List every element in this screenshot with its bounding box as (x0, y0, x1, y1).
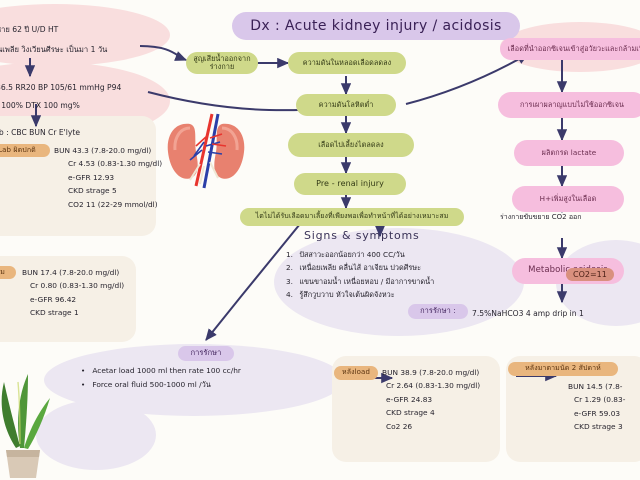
symptoms-list: 1. ปัสสาวะออกน้อยกว่า 400 CC/วัน 2. เหนื… (286, 248, 434, 302)
lab-value-row: BUN 17.4 (7.8-20.0 mg/dl) (22, 266, 124, 279)
lab-value-row: BUN 38.9 (7.8-20.0 mg/dl) (382, 366, 480, 379)
treatment-fluid-badge: การรักษา (178, 346, 234, 361)
lab-value-row: Cr 1.29 (0.83- (574, 393, 625, 406)
lab-value-row: Cr 2.64 (0.83-1.30 mg/dl) (386, 379, 480, 392)
list-item: • Force oral fluid 500-1000 ml /วัน (76, 378, 241, 392)
lab-value-row: BUN 14.5 (7.8- (568, 380, 625, 393)
flow-node-low-perfusion: ความดันโลหิตต่ำ (296, 94, 396, 116)
lab-value-row: CKD strage 5 (68, 184, 162, 197)
patient-line-1: ผู้ป่วยชาย 62 ปี U/D HT (0, 24, 58, 35)
flow-node-pre-renal-injury: Pre - renal injury (294, 173, 406, 195)
lab-order-text: Lab : CBC BUN Cr E'lyte (0, 128, 80, 137)
bullet-icon: • (76, 364, 90, 378)
flow-node-renal-blood-down: เลือดไปเลี้ยงไตลดลง (288, 133, 414, 157)
patient-line-2: CC : อ่อนเพลีย วิงเวียนศีรษะ เป็นมา 1 วั… (0, 44, 107, 55)
post-load-badge: หลังload (334, 366, 378, 380)
post-load-values: BUN 38.9 (7.8-20.0 mg/dl) Cr 2.64 (0.83-… (382, 366, 480, 433)
list-item-text: Force oral fluid 500-1000 ml /วัน (92, 380, 211, 389)
list-item-text: ปัสสาวะออกน้อยกว่า 400 CC/วัน (299, 250, 404, 259)
page-title: Dx : Acute kidney injury / acidosis (232, 12, 520, 40)
treatment-bicarb-text: 7.5%NaHCO3 4 amp drip in 1 (472, 308, 584, 319)
lab-value-row: e-GFR 59.03 (574, 407, 625, 420)
list-item-text: รู้สึกวูบวาบ หัวใจเต้นผิดจังหวะ (299, 290, 394, 299)
flow-node-fluid-loss: สูญเสียน้ำออกจากร่างกาย (186, 52, 258, 74)
flow-node-hypoperfusion-tissue: เลือดที่นำออกซิเจนเข้าสู่อวัยวะและกล้ามเ… (500, 38, 640, 60)
co2-value-badge: CO2=11 (566, 268, 614, 281)
list-item-number: 1. (286, 248, 297, 261)
lab-value-row: Co2 26 (386, 420, 480, 433)
plant-illustration (0, 352, 56, 480)
flow-node-kidney-insufficient-perfusion: ไตไม่ได้รับเลือดมาเลี้ยงที่เพียงพอเพื่อท… (240, 208, 464, 226)
list-item: 1. ปัสสาวะออกน้อยกว่า 400 CC/วัน (286, 248, 434, 261)
flow-node-lactate-production: ผลิตกรด lactate (514, 140, 624, 166)
list-item-text: Acetar load 1000 ml then rate 100 cc/hr (92, 366, 241, 375)
lab-value-row: Cr 0.80 (0.83-1.30 mg/dl) (30, 279, 124, 292)
list-item: 3. แขนขาอมน้ำ เหนื่อยหอบ / มีอาการขาดน้ำ (286, 275, 434, 288)
flow-node-h-increase: H+เพิ่มสูงในเลือด (512, 186, 624, 212)
lab-second-values: BUN 17.4 (7.8-20.0 mg/dl) Cr 0.80 (0.83-… (22, 266, 124, 320)
lab-abnormal-badge: Lab ผิดปกติ (0, 144, 50, 157)
list-item-text: เหนื่อยเพลีย คลื่นไส้ อาเจียน ปวดศีรษะ (299, 263, 421, 272)
list-item-text: แขนขาอมน้ำ เหนื่อยหอบ / มีอาการขาดน้ำ (299, 277, 434, 286)
list-item-number: 2. (286, 261, 297, 274)
lab-value-row: e-GFR 24.83 (386, 393, 480, 406)
symptoms-heading: Signs & symptoms (304, 229, 420, 242)
lab-initial-values: BUN 43.3 (7.8-20.0 mg/dl) Cr 4.53 (0.83-… (54, 144, 162, 211)
vitals-line-1: V/S T 36.5 RR20 BP 105/61 mmHg P94 (0, 82, 121, 93)
list-item: 2. เหนื่อยเพลีย คลื่นไส้ อาเจียน ปวดศีรษ… (286, 261, 434, 274)
lab-value-row: CKD strage 3 (574, 420, 625, 433)
follow-up-badge: หลังมาตามนัด 2 สัปดาห์ (508, 362, 618, 376)
flow-node-bp-drop: ความดันในหลอดเลือดลดลง (288, 52, 406, 74)
bullet-icon: • (76, 378, 90, 392)
list-item: 4. รู้สึกวูบวาบ หัวใจเต้นผิดจังหวะ (286, 288, 434, 301)
concept-map-canvas: Dx : Acute kidney injury / acidosis ผู้ป… (0, 0, 640, 480)
lab-value-row: CKD strage 4 (386, 406, 480, 419)
kidney-illustration (160, 112, 252, 196)
flow-node-anaerobic-metabolism: การเผาผลาญแบบไม่ใช้ออกซิเจน (498, 92, 640, 118)
list-item-number: 3. (286, 275, 297, 288)
list-item: • Acetar load 1000 ml then rate 100 cc/h… (76, 364, 241, 378)
lab-value-row: CKD strage 1 (30, 306, 124, 319)
lab-value-row: e-GFR 96.42 (30, 293, 124, 306)
vitals-line-2: O2 sat 100% DTX 100 mg% (0, 100, 80, 111)
flow-node-co2-expiration: ร่างกายขับขยาย CO2 ออก (500, 212, 581, 222)
list-item-number: 4. (286, 288, 297, 301)
lab-value-row: Cr 4.53 (0.83-1.30 mg/dl) (68, 157, 162, 170)
lab-second-badge: เดิม (0, 266, 16, 279)
treatment-bicarb-badge: การรักษา : (408, 304, 468, 319)
lab-value-row: BUN 43.3 (7.8-20.0 mg/dl) (54, 144, 162, 157)
follow-up-values: BUN 14.5 (7.8- Cr 1.29 (0.83- e-GFR 59.0… (568, 380, 625, 434)
treatment-fluid-list: • Acetar load 1000 ml then rate 100 cc/h… (76, 364, 241, 392)
lab-value-row: CO2 11 (22-29 mmol/dl) (68, 198, 162, 211)
background-blob-pink-top (0, 4, 170, 66)
lab-value-row: e-GFR 12.93 (68, 171, 162, 184)
